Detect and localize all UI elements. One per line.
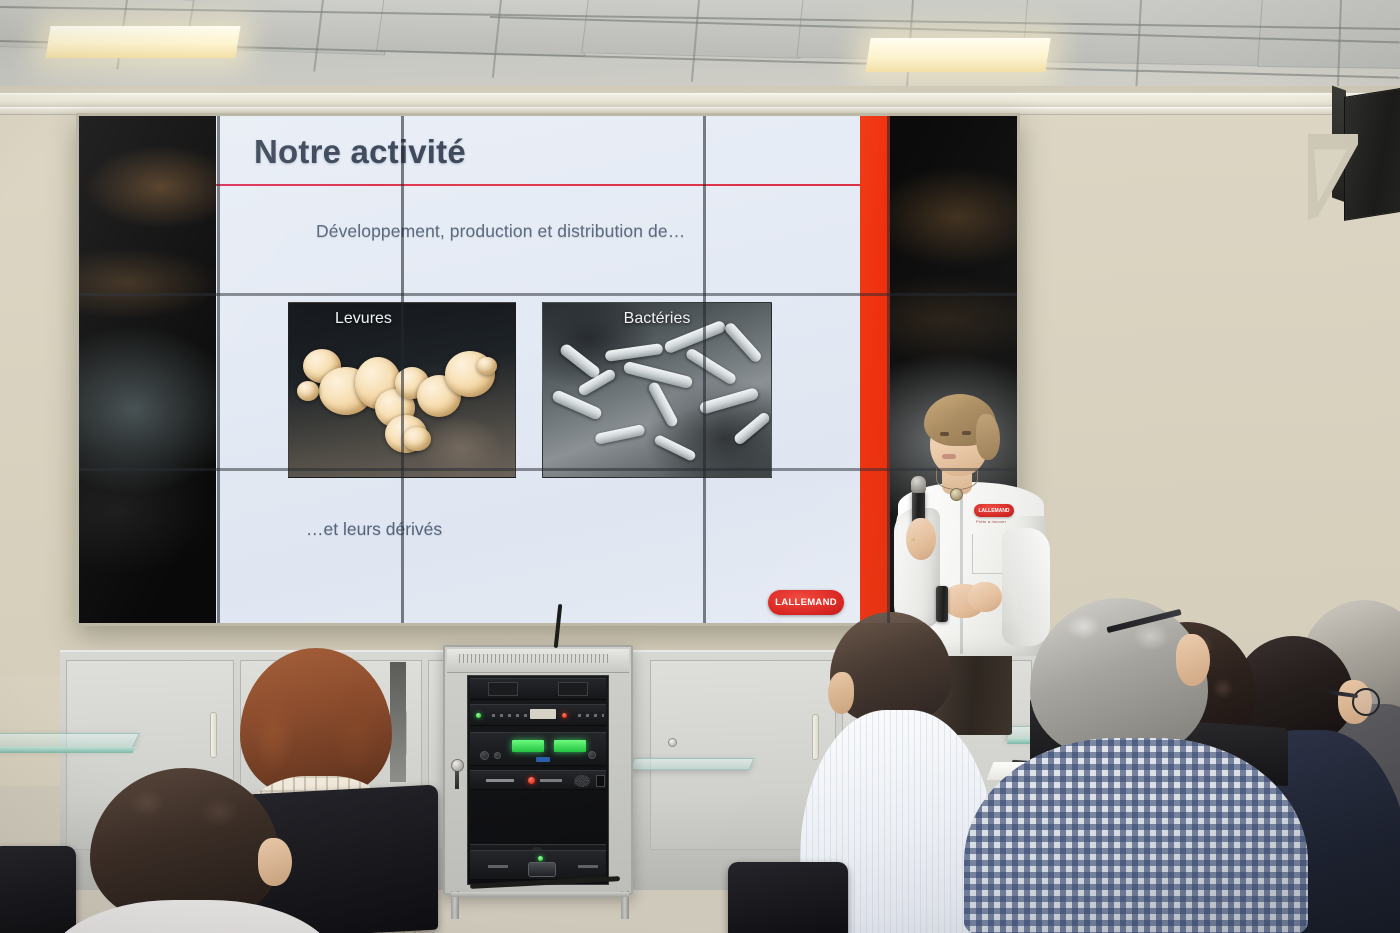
ceiling [0,0,1400,96]
audience-member-front-left [62,768,332,933]
presenter-shirt-logo-sub: Prête à innover [976,519,1006,524]
video-wall-letterbox-left [79,116,216,623]
rack-unit-player [470,770,606,790]
bezel-horizontal-1 [79,293,1017,296]
rack-lcd-right [554,740,586,752]
presenter-shirt-logo-text: LALLEMAND [978,508,1009,514]
ceiling-light-right [865,38,1050,72]
bacteria-photo: Bactéries [542,302,772,478]
rack-unit-amplifier [470,704,606,726]
bezel-vertical-3 [703,116,706,623]
rack-unit-charger [470,850,606,880]
slide-title-underline [216,184,860,186]
bezel-horizontal-2 [79,468,1017,471]
rack-key[interactable] [455,771,459,789]
presenter-pendant [950,488,963,501]
wall-speaker [1306,88,1400,228]
glasses-lens [1352,688,1380,716]
slide-footer-text: …et leurs dérivés [306,519,442,540]
presenter-shirt-logo: LALLEMAND [974,504,1014,517]
front-left-body [42,900,342,933]
slide-title: Notre activité [254,133,466,171]
presenter-ring [908,538,915,541]
cabinet-lock-2[interactable] [668,738,677,747]
video-wall-display[interactable]: Notre activité Développement, production… [76,113,1020,626]
rack-unit-receiver [470,732,606,766]
ceiling-light-left [45,26,240,58]
av-equipment-rack[interactable] [443,645,633,895]
slide-subtitle: Développement, production et distributio… [316,221,685,242]
bezel-vertical-2 [401,116,404,623]
presentation-slide: Notre activité Développement, production… [216,116,890,626]
slide-logo-text: LALLEMAND [775,597,837,608]
bezel-vertical-1 [217,116,220,623]
bacteria-photo-label: Bactéries [543,310,771,328]
chair-back-center [728,862,848,933]
checked-shirt-pattern [964,738,1308,933]
microphone-head [911,476,926,493]
conference-room-scene: Notre activité Développement, production… [0,0,1400,933]
rack-lcd-left [512,740,544,752]
rack-vent [459,654,609,663]
audience-member-grey-hair-man [1010,598,1310,933]
glass-table-left-edge [0,747,135,753]
bezel-vertical-4 [887,116,890,623]
glass-table-center [630,758,755,770]
rack-glass-door[interactable] [467,675,609,885]
